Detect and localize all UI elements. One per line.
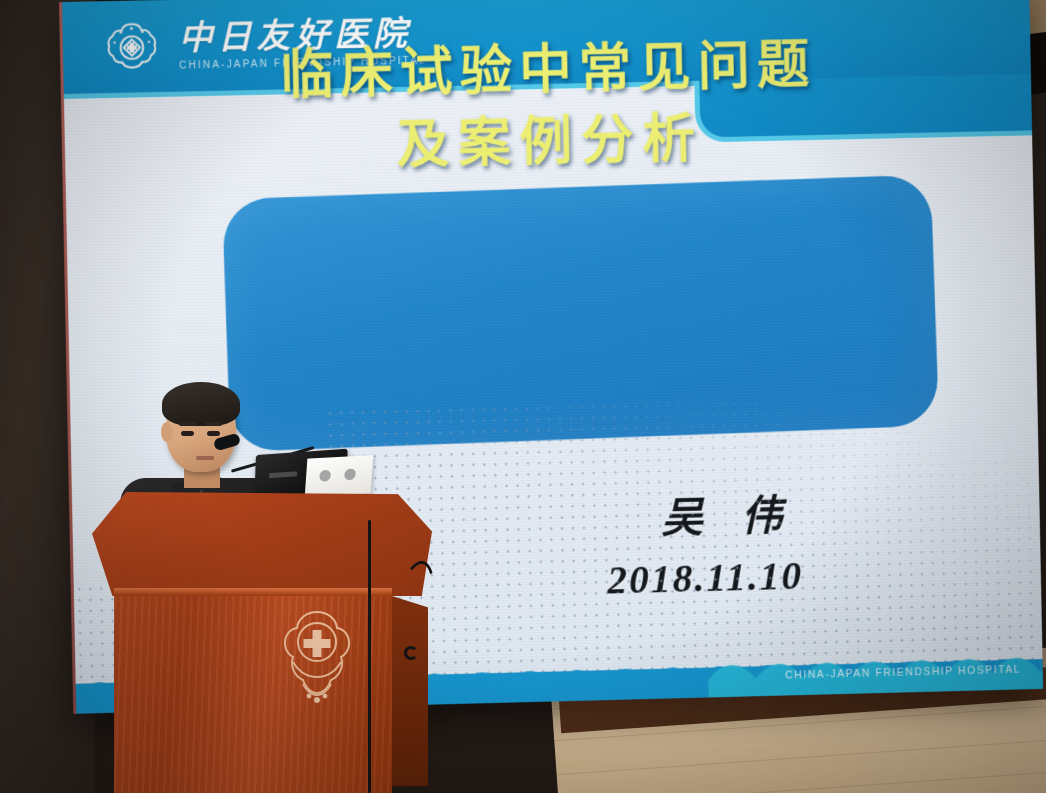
speaker-mouth <box>196 456 214 460</box>
slide-title: 临床试验中常见问题 及案例分析 <box>63 26 1033 189</box>
name-card <box>305 455 374 497</box>
podium <box>92 492 432 793</box>
conference-photo-scene: 中日友好医院 CHINA-JAPAN FRIENDSHIP HOSPITAL 临… <box>0 0 1046 793</box>
speaker-hair <box>162 382 240 426</box>
speaker-brow-left <box>179 422 196 426</box>
name-card-glyph <box>319 468 332 483</box>
name-card-glyph <box>344 467 357 482</box>
speaker-eye-right <box>207 431 220 436</box>
hospital-crest-icon <box>277 608 357 714</box>
speaker-brow-right <box>205 422 222 426</box>
laptop-logo <box>269 471 297 478</box>
speaker-ear <box>161 422 173 442</box>
power-cable <box>368 520 371 793</box>
speaker-eye-left <box>181 431 194 436</box>
podium-top-surface <box>92 492 432 596</box>
podium-front-edge <box>114 588 392 596</box>
cable-coil <box>404 646 418 660</box>
